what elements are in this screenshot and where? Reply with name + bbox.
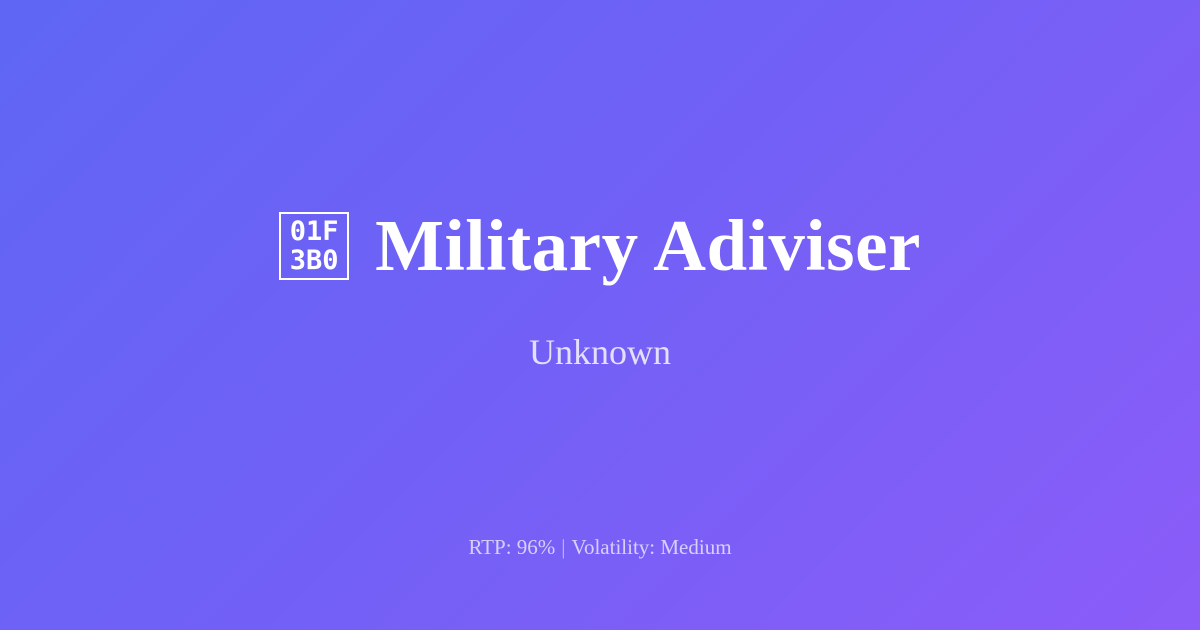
- tofu-codepoint-top: 01F: [290, 217, 339, 246]
- rtp-value: 96%: [517, 535, 556, 559]
- rtp-label: RTP:: [468, 535, 511, 559]
- og-card: 01F 3B0 Military Adiviser Unknown RTP: 9…: [0, 0, 1200, 630]
- volatility-label: Volatility:: [572, 535, 656, 559]
- title-row: 01F 3B0 Military Adiviser: [0, 208, 1200, 285]
- tofu-codepoint-bottom: 3B0: [290, 246, 339, 275]
- game-stats-line: RTP: 96%|Volatility: Medium: [468, 535, 731, 560]
- page-title: Military Adiviser: [375, 208, 921, 285]
- volatility-value: Medium: [660, 535, 731, 559]
- card-footer: RTP: 96%|Volatility: Medium: [0, 535, 1200, 560]
- meta-separator: |: [555, 535, 571, 559]
- slot-machine-emoji-icon: 01F 3B0: [279, 212, 349, 280]
- page-subtitle: Unknown: [529, 331, 671, 374]
